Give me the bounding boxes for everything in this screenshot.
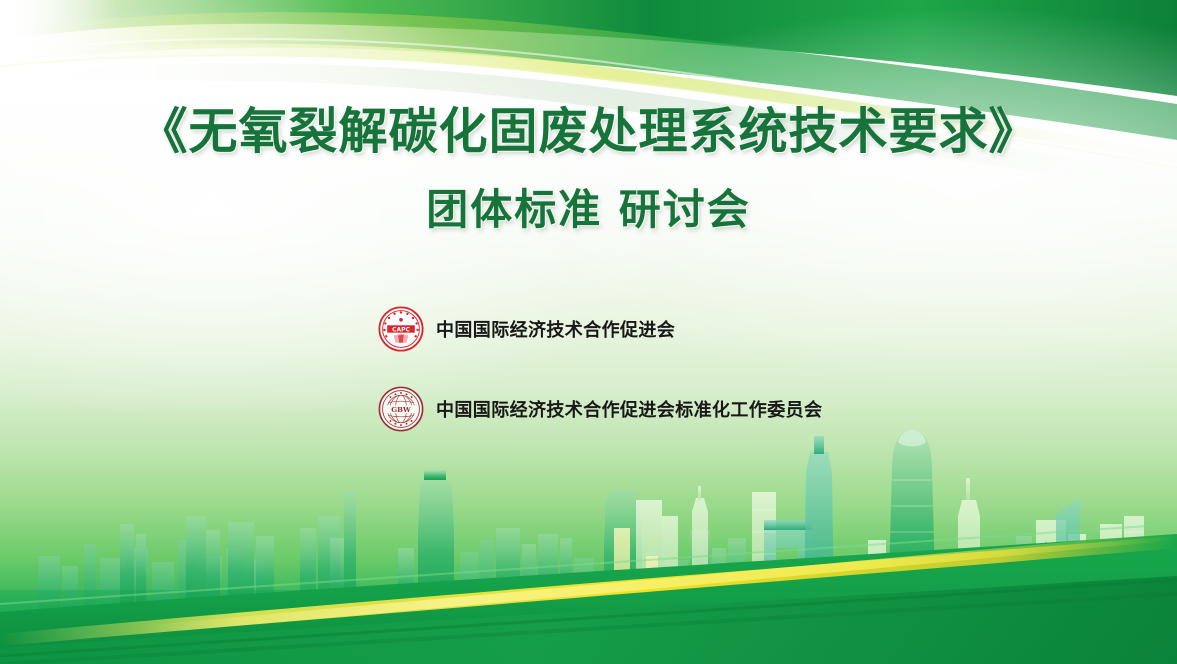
capc-seal-icon: CAPC (378, 306, 424, 352)
svg-text:CAPC: CAPC (392, 326, 410, 333)
svg-text:GBW: GBW (391, 406, 411, 414)
organization-row: GBW (378, 386, 822, 432)
organization-list: CAPC 中国国际经济技术合作促进会 (378, 306, 822, 432)
organization-name: 中国国际经济技术合作促进会 (436, 316, 675, 342)
title-block: 《无氧裂解碳化固废处理系统技术要求》 团体标准 研讨会 (0, 104, 1177, 235)
sub-title: 团体标准 研讨会 (0, 186, 1177, 234)
main-title: 《无氧裂解碳化固废处理系统技术要求》 (0, 104, 1177, 160)
organization-row: CAPC 中国国际经济技术合作促进会 (378, 306, 822, 352)
gbw-seal-icon: GBW (378, 386, 424, 432)
organization-name: 中国国际经济技术合作促进会标准化工作委员会 (436, 396, 822, 422)
title-slide: 《无氧裂解碳化固废处理系统技术要求》 团体标准 研讨会 (0, 0, 1177, 664)
